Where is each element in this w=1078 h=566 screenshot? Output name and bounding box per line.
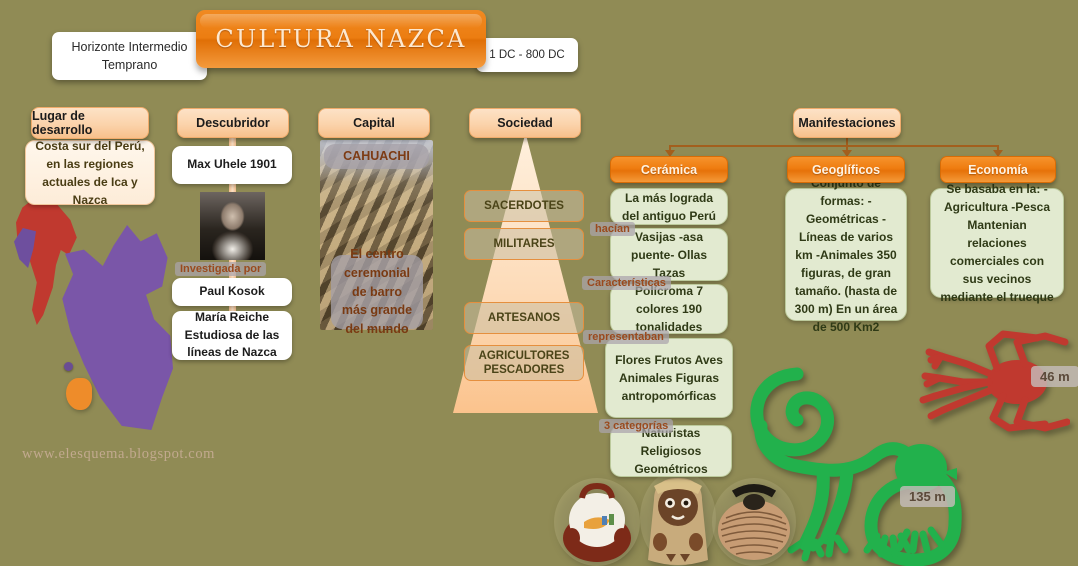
ceramica-representaban-box: Flores Frutos Aves Animales Figuras antr… — [605, 338, 733, 418]
pyramid-level-militares-label: MILITARES — [493, 237, 554, 251]
section-heading-lugar-de-desarrollo[interactable]: Lugar de desarrollo — [31, 107, 149, 139]
tag-investigada-label: Investigada por — [180, 263, 261, 275]
tag-representaban-label: representaban — [588, 331, 664, 343]
sociedad-heading-label: Sociedad — [497, 116, 553, 130]
section-heading-sociedad[interactable]: Sociedad — [469, 108, 581, 138]
ceramica-intro-box: La más lograda del antiguo Perú — [610, 188, 728, 225]
geoglificos-body-box: Conjunto de formas: - Geométricas - Líne… — [785, 188, 907, 321]
researcher-2-box: María Reiche Estudiosa de las líneas de … — [172, 311, 292, 360]
page-title-text: CULTURA NAZCA — [215, 25, 466, 53]
tag-hacian: hacían — [590, 222, 635, 236]
cahuachi-name-box: CAHUACHI — [324, 144, 429, 169]
lugar-heading-label: Lugar de desarrollo — [32, 109, 148, 137]
branch-heading-ceramica[interactable]: Cerámica — [610, 156, 728, 183]
section-heading-descubridor[interactable]: Descubridor — [177, 108, 289, 138]
pyramid-level-agricultores-pescadores: AGRICULTORES PESCADORES — [464, 345, 584, 381]
cahuachi-name-text: CAHUACHI — [343, 147, 410, 166]
pyramid-level-artesanos-label: ARTESANOS — [488, 311, 560, 325]
researcher-1-box: Paul Kosok — [172, 278, 292, 306]
pyramid-level-agricultores-label: AGRICULTORES PESCADORES — [469, 349, 579, 378]
spider-measurement-badge: 46 m — [1031, 366, 1078, 387]
ceramica-caracteristicas-text: Polícroma 7 colores 190 tonalidades — [618, 282, 720, 336]
geoglificos-heading-label: Geoglíficos — [812, 163, 880, 177]
watermark-text: www.elesquema.blogspot.com — [22, 446, 215, 463]
tag-3-categorias: 3 categorías — [599, 419, 673, 433]
manifestaciones-horizontal-connector — [669, 145, 999, 147]
date-range-chip: 1 DC - 800 DC — [476, 38, 578, 72]
tag-caracteristicas-label: Características — [587, 277, 666, 289]
tag-representaban: representaban — [583, 330, 669, 344]
pyramid-level-artesanos: ARTESANOS — [464, 302, 584, 334]
tag-hacian-label: hacían — [595, 223, 630, 235]
lugar-body-box: Costa sur del Perú, en las regiones actu… — [25, 140, 155, 205]
infographic-canvas: Horizonte Intermedio Temprano CULTURA NA… — [0, 0, 1078, 566]
period-chip: Horizonte Intermedio Temprano — [52, 32, 207, 80]
branch-heading-economia[interactable]: Economía — [940, 156, 1056, 183]
researcher-1-text: Paul Kosok — [199, 283, 264, 300]
economia-heading-label: Economía — [968, 163, 1028, 177]
section-heading-capital[interactable]: Capital — [318, 108, 430, 138]
nazca-pot-3-photo — [712, 478, 796, 566]
discoverer-box: Max Uhele 1901 — [172, 146, 292, 184]
nazca-pot-2-photo — [640, 470, 716, 566]
ceramica-representaban-text: Flores Frutos Aves Animales Figuras antr… — [613, 351, 725, 405]
ceramica-caracteristicas-box: Polícroma 7 colores 190 tonalidades — [610, 284, 728, 334]
tag-3-categorias-label: 3 categorías — [604, 420, 668, 432]
period-label: Horizonte Intermedio Temprano — [58, 38, 201, 74]
monkey-measurement-badge: 135 m — [900, 486, 955, 507]
pyramid-level-militares: MILITARES — [464, 228, 584, 260]
branch-heading-geoglificos[interactable]: Geoglíficos — [787, 156, 905, 183]
capital-body-text: El centro ceremonial de barro más grande… — [339, 245, 415, 339]
tag-caracteristicas: Características — [582, 276, 671, 290]
section-heading-manifestaciones[interactable]: Manifestaciones — [793, 108, 901, 138]
lugar-body-text: Costa sur del Perú, en las regiones actu… — [34, 137, 146, 209]
economia-body-box: Se basaba en la: -Agricultura -Pesca Man… — [930, 188, 1064, 298]
discoverer-text: Max Uhele 1901 — [187, 156, 276, 173]
monkey-measurement-label: 135 m — [909, 489, 946, 504]
date-range-label: 1 DC - 800 DC — [489, 47, 564, 64]
capital-body-box: El centro ceremonial de barro más grande… — [331, 255, 423, 329]
lima-dot-icon — [64, 362, 73, 371]
economia-body-text: Se basaba en la: -Agricultura -Pesca Man… — [938, 180, 1056, 306]
ceramica-heading-label: Cerámica — [641, 163, 697, 177]
spider-measurement-label: 46 m — [1040, 369, 1070, 384]
capital-heading-label: Capital — [353, 116, 395, 130]
nazca-region-marker-icon — [66, 378, 92, 410]
researcher-2-text: María Reiche Estudiosa de las líneas de … — [178, 309, 286, 361]
ceramica-intro-text: La más lograda del antiguo Perú — [618, 189, 720, 225]
descubridor-heading-label: Descubridor — [196, 116, 270, 130]
pyramid-level-sacerdotes: SACERDOTES — [464, 190, 584, 222]
pyramid-level-sacerdotes-label: SACERDOTES — [484, 199, 564, 213]
manifestaciones-heading-label: Manifestaciones — [798, 116, 895, 130]
geoglificos-body-text: Conjunto de formas: - Geométricas - Líne… — [793, 174, 899, 336]
nazca-pot-1-photo — [554, 478, 640, 566]
max-uhle-portrait-photo — [200, 192, 265, 260]
tag-investigada-por: Investigada por — [175, 262, 266, 276]
page-title: CULTURA NAZCA — [196, 10, 486, 68]
